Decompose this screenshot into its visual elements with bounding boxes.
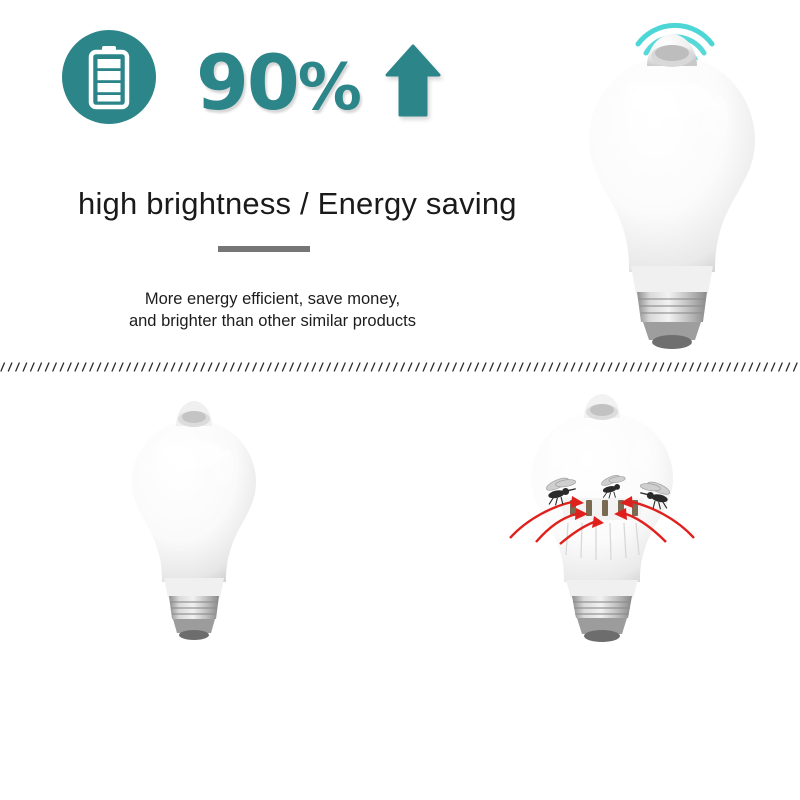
e27-screw-base <box>637 292 707 349</box>
product-infographic: 90% high brightness / Energy saving More… <box>0 0 800 800</box>
section-divider <box>0 360 800 376</box>
pir-sensor-dome <box>584 394 620 420</box>
percent-number: 90 <box>196 38 298 127</box>
energy-subtext: More energy efficient, save money, and b… <box>0 288 545 333</box>
e27-screw-base <box>169 596 219 640</box>
subtext-line-2: and brighter than other similar products <box>0 310 545 332</box>
vented-led-bulb-with-mosquitoes-photo <box>498 390 723 650</box>
pir-sensor-dome <box>176 401 212 427</box>
arrow-up-icon <box>384 44 442 123</box>
title-divider-rule <box>218 246 310 252</box>
subtext-line-1: More energy efficient, save money, <box>0 288 545 310</box>
page-title: high brightness / Energy saving <box>78 186 517 222</box>
sealed-led-bulb-photo <box>112 392 277 647</box>
motion-sensor-led-bulb-photo <box>565 4 780 354</box>
percent-symbol: % <box>298 51 360 125</box>
comparison-section: DUST <box>0 380 800 800</box>
energy-percent-row: 90% <box>196 33 442 133</box>
energy-saving-section: 90% high brightness / Energy saving More… <box>0 0 800 365</box>
percent-value: 90% <box>196 45 360 121</box>
battery-full-icon <box>62 30 156 124</box>
e27-screw-base <box>572 596 632 642</box>
